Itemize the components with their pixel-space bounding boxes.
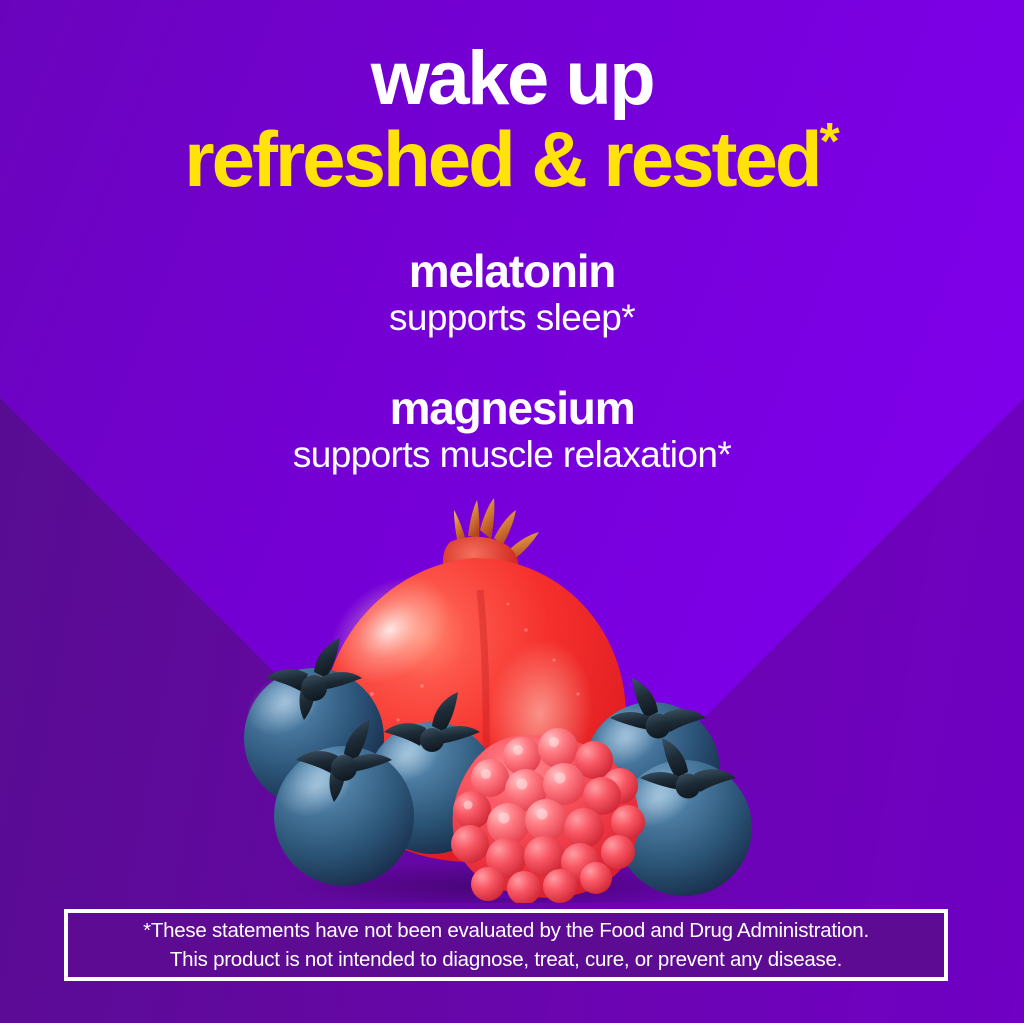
benefit-title-magnesium: magnesium <box>0 385 1024 432</box>
headline-line-2-text: refreshed & rested <box>184 115 819 203</box>
fruit-cluster-svg <box>222 498 802 903</box>
benefit-block-magnesium: magnesium supports muscle relaxation* <box>0 385 1024 475</box>
headline-group: wake up refreshed & rested* <box>0 0 1024 196</box>
benefit-subtitle-melatonin: supports sleep* <box>0 299 1024 338</box>
benefit-title-melatonin: melatonin <box>0 248 1024 295</box>
benefit-subtitle-magnesium: supports muscle relaxation* <box>0 436 1024 475</box>
headline-line-1: wake up <box>0 44 1024 114</box>
headline-asterisk: * <box>820 113 840 171</box>
disclaimer-line-2: This product is not intended to diagnose… <box>170 945 842 974</box>
benefit-block-melatonin: melatonin supports sleep* <box>0 248 1024 338</box>
fruit-cluster-image <box>222 498 802 903</box>
product-graphic-canvas: wake up refreshed & rested* melatonin su… <box>0 0 1024 1023</box>
headline-line-2: refreshed & rested* <box>0 118 1024 196</box>
disclaimer-box: *These statements have not been evaluate… <box>64 909 948 981</box>
disclaimer-line-1: *These statements have not been evaluate… <box>143 916 869 945</box>
